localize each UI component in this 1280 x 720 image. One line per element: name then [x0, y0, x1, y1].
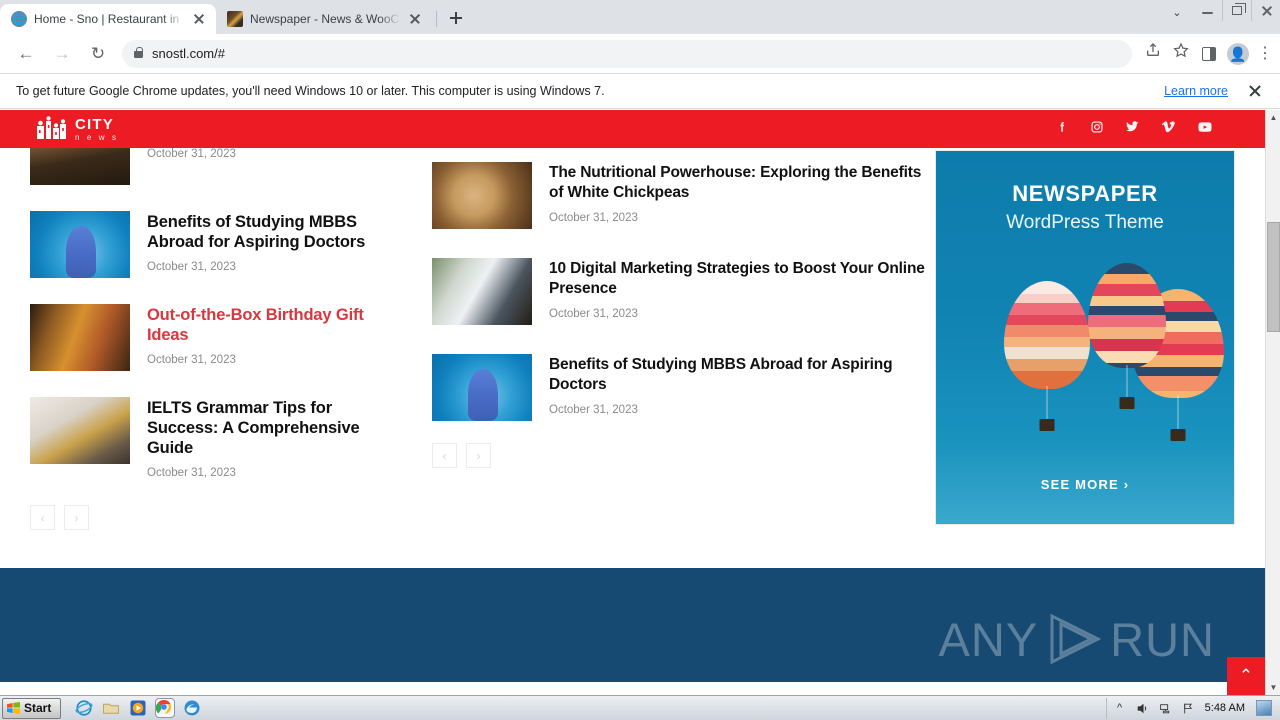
article-body: IELTS Grammar Tips for Success: A Compre… [147, 397, 378, 479]
tab-close-icon[interactable] [191, 11, 207, 27]
list-item[interactable]: Benefits of Studying MBBS Abroad for Asp… [432, 354, 927, 421]
play-triangle-icon [1042, 610, 1106, 668]
article-title[interactable]: The Nutritional Powerhouse: Exploring th… [549, 163, 927, 203]
article-title[interactable]: Benefits of Studying MBBS Abroad for Asp… [147, 212, 378, 252]
site-header: CITY n e w s [0, 110, 1265, 148]
network-icon[interactable] [1159, 701, 1173, 715]
windows-flag-icon [7, 702, 20, 714]
forward-icon[interactable]: → [48, 40, 76, 68]
left-column-pagination: ‹ › [30, 505, 378, 530]
infobar-close-icon[interactable] [1244, 80, 1266, 102]
profile-avatar-icon[interactable]: 👤 [1227, 43, 1249, 65]
newspaper-icon [227, 11, 243, 27]
start-button-label: Start [24, 701, 51, 715]
back-to-top-button[interactable]: ⌃ [1227, 657, 1265, 695]
bookmark-star-icon[interactable] [1168, 41, 1194, 67]
show-hidden-icons-icon[interactable]: ^ [1113, 701, 1127, 715]
article-title[interactable]: Benefits of Studying MBBS Abroad for Asp… [549, 355, 927, 395]
chevron-down-icon[interactable]: ⌄ [1166, 4, 1188, 22]
globe-icon: 🌐 [11, 11, 27, 27]
show-desktop-button[interactable] [1256, 700, 1272, 716]
browser-window: 🌐 Home - Sno | Restaurant in St. Louis N… [0, 0, 1280, 720]
lock-icon [134, 51, 143, 58]
article-date: October 31, 2023 [549, 404, 927, 416]
article-date: October 31, 2023 [147, 467, 378, 479]
page-content: Online Presence October 31, 2023 Benefit… [0, 110, 1265, 530]
see-more-link[interactable]: SEE MORE › [936, 477, 1234, 492]
logo-title: CITY [75, 117, 119, 132]
logo-tagline: n e w s [75, 134, 119, 142]
list-item[interactable]: Benefits of Studying MBBS Abroad for Asp… [30, 211, 378, 278]
instagram-icon[interactable] [1090, 120, 1104, 139]
windows-taskbar: Start ^ [0, 695, 1280, 720]
article-thumbnail [432, 354, 532, 421]
tab-newspaper[interactable]: Newspaper - News & WooCommerce [216, 4, 432, 34]
article-date: October 31, 2023 [147, 148, 274, 160]
site-footer: ANY RUN [0, 568, 1265, 682]
scrollbar-thumb[interactable] [1267, 222, 1280, 332]
internet-explorer-icon[interactable] [75, 699, 93, 717]
article-thumbnail [30, 211, 130, 278]
balloon-icon [1004, 281, 1090, 431]
address-bar[interactable]: snostl.com/# [122, 40, 1132, 68]
volume-icon[interactable] [1136, 701, 1150, 715]
article-body: The Nutritional Powerhouse: Exploring th… [549, 162, 927, 229]
pagination-next-button[interactable]: › [64, 505, 89, 530]
learn-more-link[interactable]: Learn more [1164, 84, 1228, 98]
chrome-update-infobar: To get future Google Chrome updates, you… [0, 74, 1280, 109]
article-thumbnail [30, 304, 130, 371]
back-icon[interactable]: ← [12, 40, 40, 68]
tab-title: Home - Sno | Restaurant in St. Louis [34, 12, 184, 26]
article-title[interactable]: Out-of-the-Box Birthday Gift Ideas [147, 305, 378, 345]
middle-column-pagination: ‹ › [432, 443, 927, 468]
article-date: October 31, 2023 [549, 212, 927, 224]
anyrun-watermark: ANY RUN [939, 610, 1215, 668]
article-date: October 31, 2023 [147, 261, 378, 273]
tab-home-sno[interactable]: 🌐 Home - Sno | Restaurant in St. Louis [0, 4, 216, 34]
content-columns: Online Presence October 31, 2023 Benefit… [30, 140, 1235, 530]
new-tab-button[interactable] [442, 4, 470, 32]
facebook-icon[interactable] [1055, 120, 1069, 139]
youtube-icon[interactable] [1197, 119, 1213, 140]
tab-strip: 🌐 Home - Sno | Restaurant in St. Louis N… [0, 0, 1280, 34]
reload-icon[interactable]: ↻ [84, 40, 112, 68]
pagination-prev-button[interactable]: ‹ [432, 443, 457, 468]
tab-close-icon[interactable] [407, 11, 423, 27]
article-thumbnail [432, 258, 532, 325]
system-tray: ^ 5:48 AM [1106, 698, 1278, 719]
list-item[interactable]: Out-of-the-Box Birthday Gift Ideas Octob… [30, 304, 378, 371]
infobar-message: To get future Google Chrome updates, you… [16, 84, 605, 98]
article-title[interactable]: 10 Digital Marketing Strategies to Boost… [549, 259, 927, 299]
share-icon[interactable] [1140, 41, 1166, 67]
scroll-up-arrow-icon[interactable]: ▲ [1266, 110, 1280, 125]
page-scrollbar[interactable]: ▲ ▼ [1265, 110, 1280, 695]
balloon-icon [1088, 263, 1166, 409]
site-logo[interactable]: CITY n e w s [36, 116, 119, 142]
vimeo-icon[interactable] [1161, 119, 1176, 139]
middle-column: The Nutritional Powerhouse: Exploring th… [432, 140, 927, 530]
left-column: Online Presence October 31, 2023 Benefit… [30, 140, 378, 530]
city-skyline-icon [36, 116, 68, 142]
pagination-prev-button[interactable]: ‹ [30, 505, 55, 530]
ad-title: NEWSPAPER [936, 181, 1234, 207]
minimize-button[interactable] [1193, 0, 1222, 21]
watermark-left-text: ANY [939, 612, 1039, 667]
three-dot-menu-icon[interactable]: ⋮ [1252, 41, 1278, 67]
ad-subtitle: WordPress Theme [936, 212, 1234, 234]
article-body: Out-of-the-Box Birthday Gift Ideas Octob… [147, 304, 378, 371]
start-button[interactable]: Start [2, 698, 61, 719]
article-body: Benefits of Studying MBBS Abroad for Asp… [549, 354, 927, 421]
logo-text: CITY n e w s [75, 117, 119, 142]
newspaper-theme-ad[interactable]: NEWSPAPER WordPress Theme [935, 150, 1235, 525]
window-controls [1193, 0, 1280, 22]
flag-action-center-icon[interactable] [1182, 701, 1196, 715]
list-item[interactable]: 10 Digital Marketing Strategies to Boost… [432, 258, 927, 325]
tab-title: Newspaper - News & WooCommerce [250, 12, 400, 26]
taskbar-clock[interactable]: 5:48 AM [1205, 702, 1245, 714]
quick-launch-bar [75, 699, 201, 717]
close-button[interactable] [1251, 0, 1280, 21]
maximize-button[interactable] [1222, 0, 1251, 21]
right-sidebar: NEWSPAPER WordPress Theme [935, 140, 1235, 530]
tab-separator [436, 11, 437, 27]
social-links [1055, 110, 1213, 148]
article-date: October 31, 2023 [147, 354, 378, 366]
article-thumbnail [30, 397, 130, 464]
article-body: Benefits of Studying MBBS Abroad for Asp… [147, 211, 378, 278]
file-explorer-icon[interactable] [102, 699, 120, 717]
edge-icon[interactable] [183, 699, 201, 717]
scroll-down-arrow-icon[interactable]: ▼ [1266, 680, 1280, 695]
side-panel-icon[interactable] [1196, 41, 1222, 67]
article-thumbnail [432, 162, 532, 229]
chrome-icon[interactable] [156, 699, 174, 717]
address-bar-value: snostl.com/# [152, 46, 225, 61]
media-player-icon[interactable] [129, 699, 147, 717]
article-date: October 31, 2023 [549, 308, 927, 320]
browser-toolbar: ← → ↻ snostl.com/# 👤 ⋮ [0, 34, 1280, 74]
twitter-icon[interactable] [1125, 119, 1140, 139]
watermark-right-text: RUN [1110, 612, 1215, 667]
list-item[interactable]: The Nutritional Powerhouse: Exploring th… [432, 162, 927, 229]
list-item[interactable]: IELTS Grammar Tips for Success: A Compre… [30, 397, 378, 479]
pagination-next-button[interactable]: › [466, 443, 491, 468]
article-title[interactable]: IELTS Grammar Tips for Success: A Compre… [147, 398, 378, 458]
article-body: 10 Digital Marketing Strategies to Boost… [549, 258, 927, 325]
hot-air-balloons-image [936, 251, 1234, 461]
page-viewport: CITY n e w s [0, 110, 1280, 695]
